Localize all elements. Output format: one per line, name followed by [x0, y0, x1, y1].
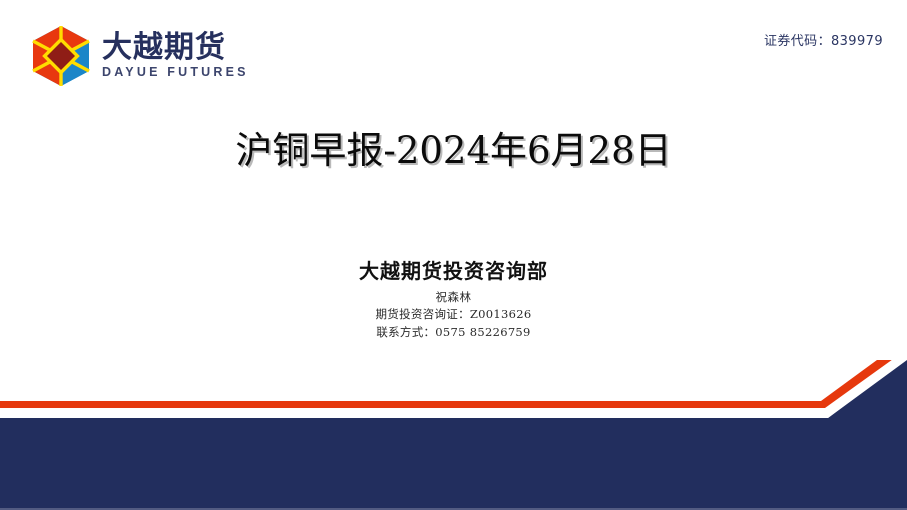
footer-navy-band [0, 360, 907, 510]
logo-wordmark: 大越期货 DAYUE FUTURES [102, 32, 249, 79]
page-title: 沪铜早报-2024年6月28日 [0, 128, 907, 174]
footer-orange-stripe [0, 360, 907, 408]
byline-block: 大越期货投资咨询部 祝森林 期货投资咨询证：Z0013626 联系方式：0575… [0, 258, 907, 342]
presentation-slide: 大越期货 DAYUE FUTURES 证券代码：839979 沪铜早报-2024… [0, 0, 907, 510]
footer-decoration [0, 360, 907, 510]
author-name: 祝森林 [0, 289, 907, 306]
license-number: 期货投资咨询证：Z0013626 [0, 306, 907, 324]
contact-phone: 联系方式：0575 85226759 [0, 324, 907, 342]
security-code-label: 证券代码：839979 [764, 30, 883, 49]
footer-white-gap [0, 360, 907, 418]
department-name: 大越期货投资咨询部 [0, 258, 907, 285]
logo-chinese-name: 大越期货 [102, 32, 249, 64]
logo-english-name: DAYUE FUTURES [102, 66, 249, 80]
brand-logo: 大越期货 DAYUE FUTURES [28, 22, 238, 90]
dayue-hexagon-logo-icon [28, 23, 94, 89]
